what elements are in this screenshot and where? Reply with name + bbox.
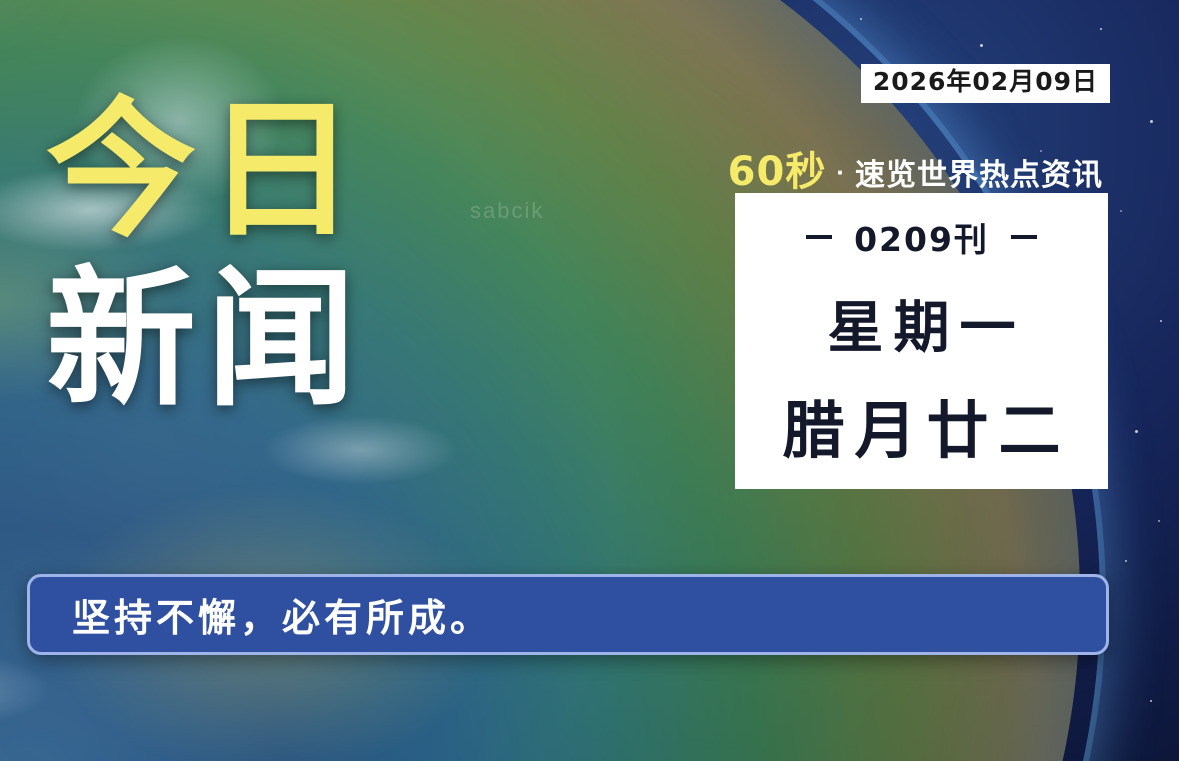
lunar-date-label: 腊月廿二: [772, 380, 1070, 470]
issue-dash-left-icon: [806, 235, 832, 239]
poster-title: 今日 新闻: [46, 96, 476, 420]
tagline-text: 速览世界热点资讯: [855, 150, 1103, 194]
info-card: 0209刊 星期一 腊月廿二: [735, 193, 1108, 489]
issue-label: 0209刊: [854, 213, 989, 261]
quote-text: 坚持不懈，必有所成。: [30, 587, 492, 642]
title-line-news: 新闻: [46, 260, 476, 420]
watermark-text: sabcik: [470, 198, 544, 224]
quote-bar: 坚持不懈，必有所成。: [27, 574, 1109, 655]
issue-dash-right-icon: [1011, 235, 1037, 239]
weekday-label: 星期一: [818, 283, 1026, 364]
news-poster: sabcik 今日 新闻 2026年02月09日 60秒 · 速览世界热点资讯 …: [0, 0, 1179, 761]
tagline-seconds: 60秒: [728, 139, 827, 197]
tagline-separator-dot: ·: [836, 157, 845, 188]
issue-row: 0209刊: [806, 213, 1037, 261]
tagline: 60秒 · 速览世界热点资讯: [728, 139, 1103, 197]
title-line-today: 今日: [46, 96, 476, 246]
date-badge: 2026年02月09日: [861, 64, 1110, 103]
